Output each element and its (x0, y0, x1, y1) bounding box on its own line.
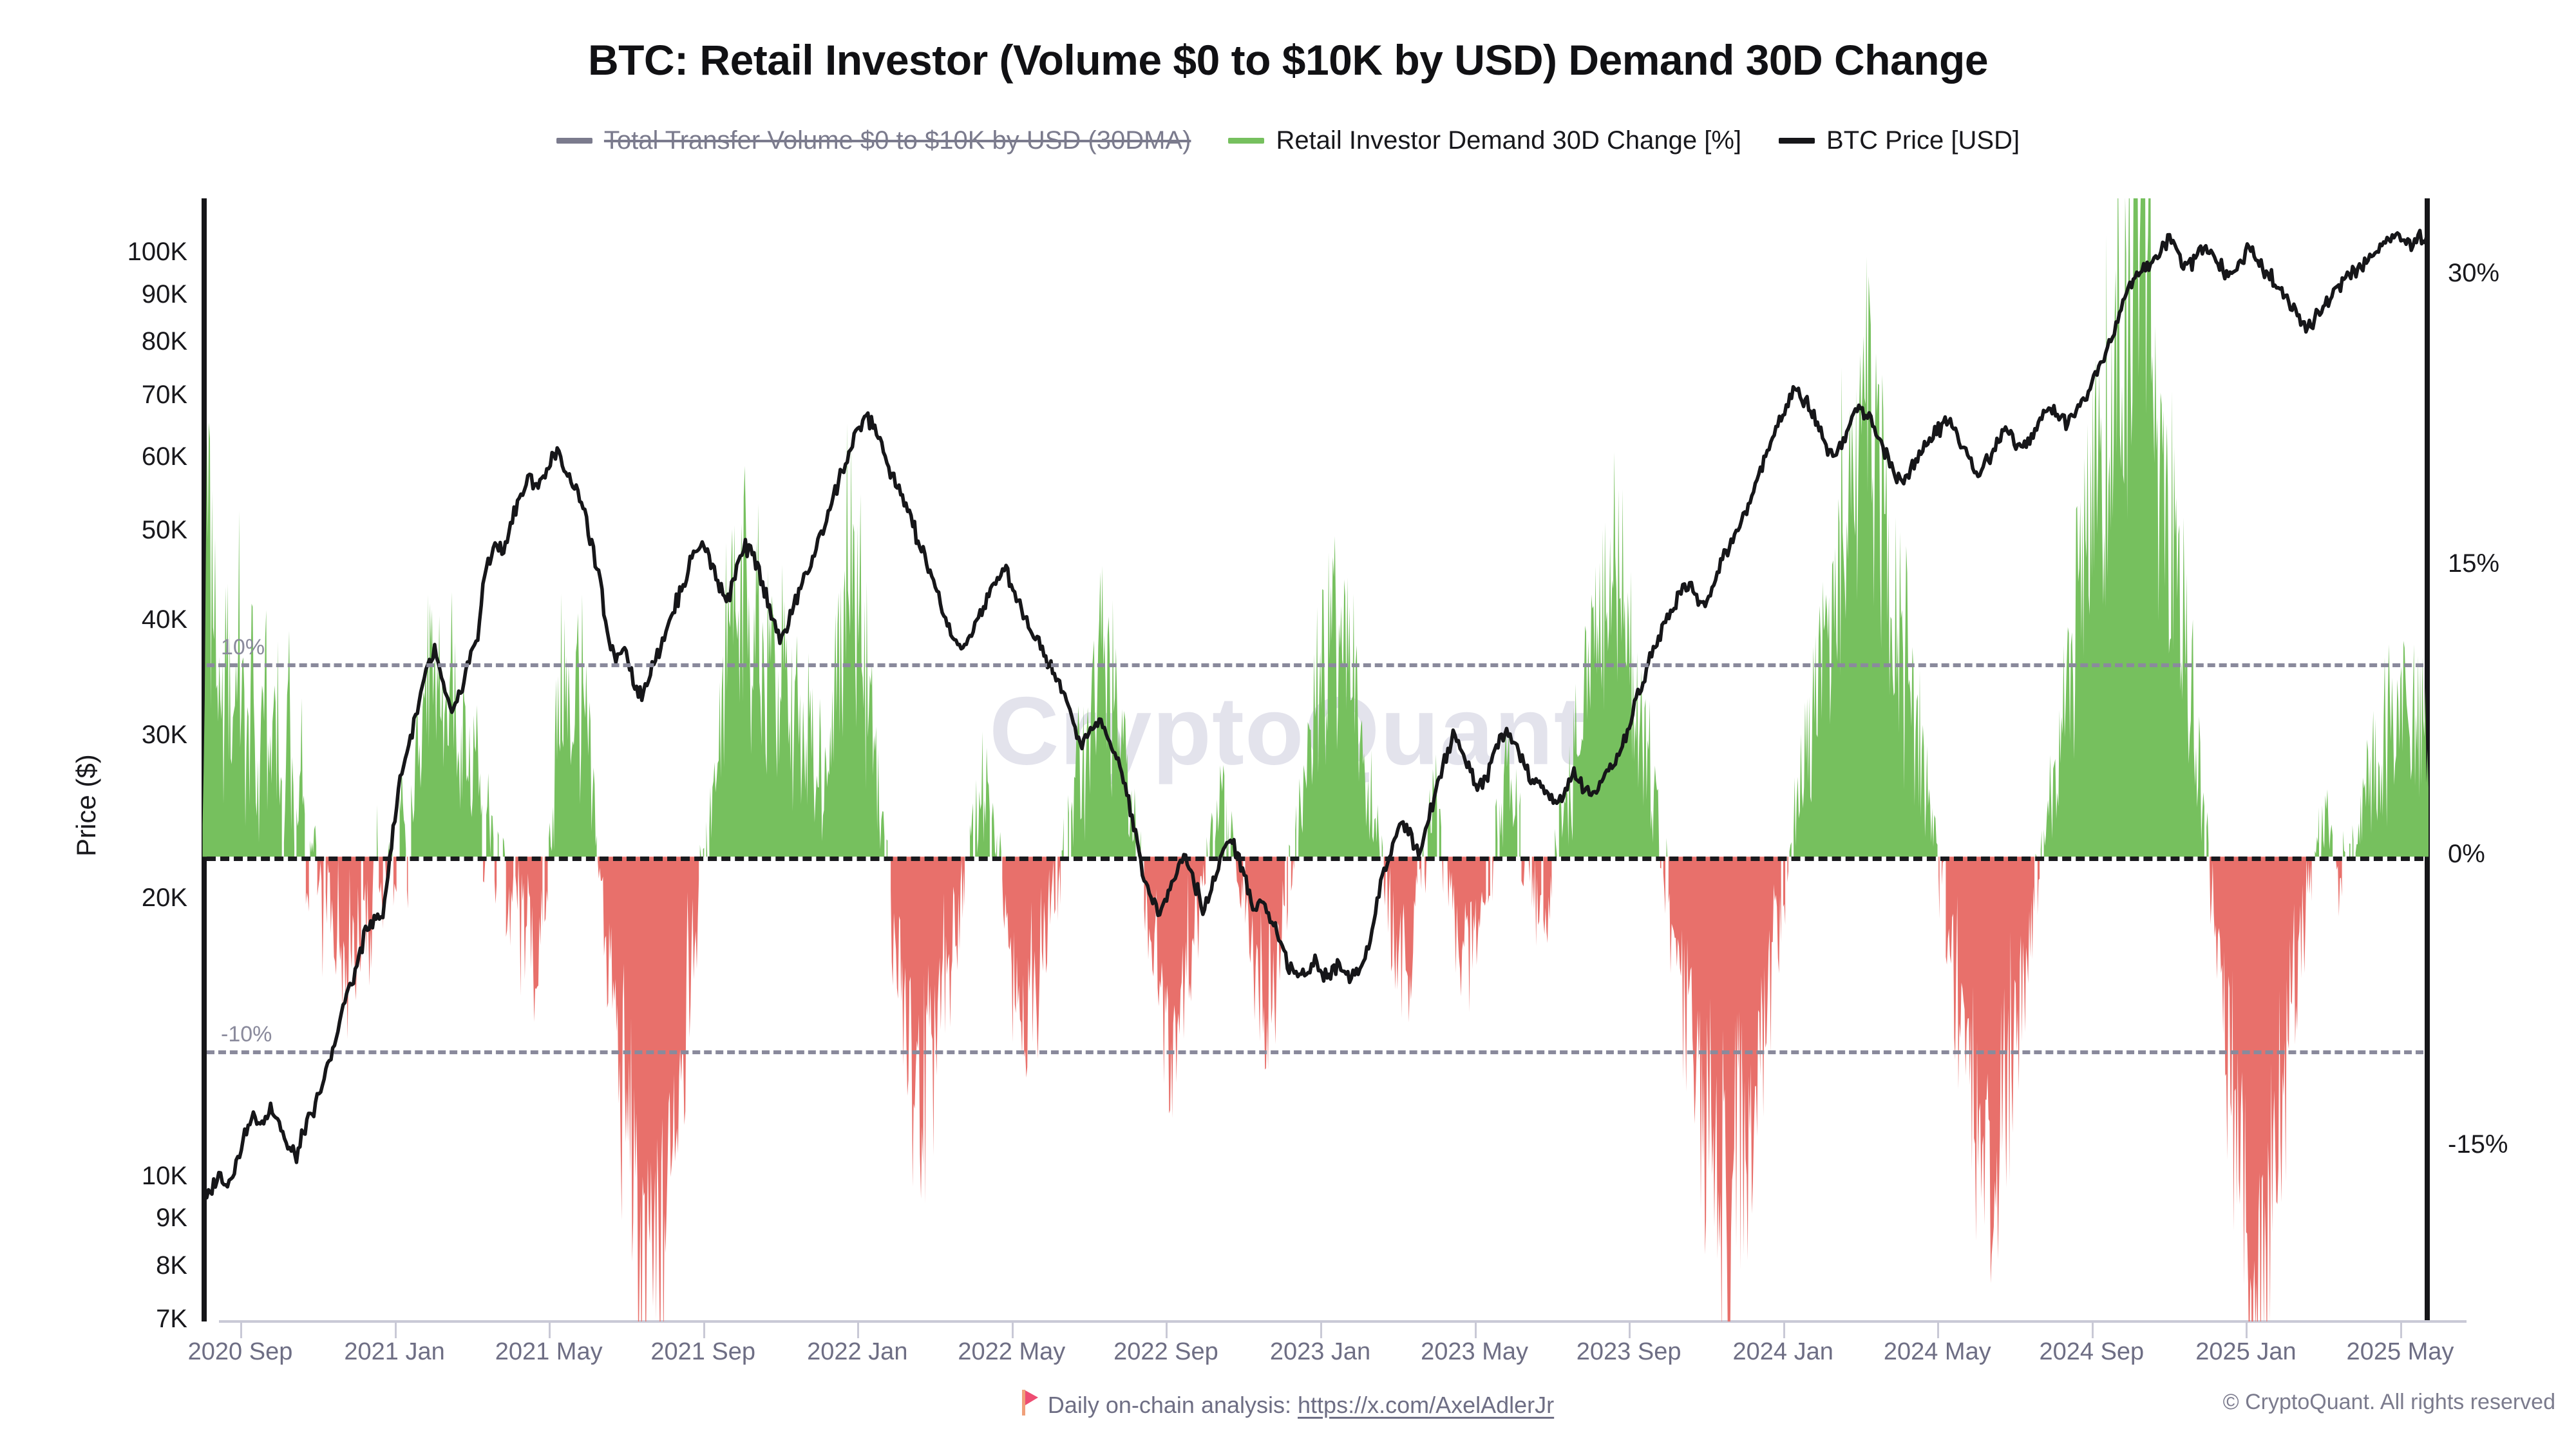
reference-line-zero (207, 857, 2423, 861)
chart-root: BTC: Retail Investor (Volume $0 to $10K … (0, 0, 2576, 1449)
y-axis-left-tick: 7K (156, 1305, 187, 1334)
y-axis-left-tick: 30K (142, 721, 187, 750)
x-axis-tick-label: 2024 May (1884, 1338, 1991, 1366)
legend-label-total-transfer-volume: Total Transfer Volume $0 to $10K by USD … (604, 126, 1191, 155)
x-axis-tick-label: 2020 Sep (188, 1338, 293, 1366)
y-axis-left-tick: 100K (128, 238, 187, 267)
x-axis-tick-mark (1475, 1321, 1477, 1338)
series-retail-demand-negative (306, 857, 2342, 1321)
legend-item-btc-price[interactable]: BTC Price [USD] (1779, 126, 2020, 155)
x-axis-tick-mark (1783, 1321, 1785, 1338)
y-axis-left-tick: 50K (142, 516, 187, 545)
y-axis-left-tick: 20K (142, 884, 187, 913)
x-axis-tick-label: 2022 May (958, 1338, 1065, 1366)
page-title: BTC: Retail Investor (Volume $0 to $10K … (0, 35, 2576, 84)
plot-area (202, 198, 2429, 1321)
reference-line-label: 10% (221, 635, 265, 660)
footer-copyright: © CryptoQuant. All rights reserved (2223, 1390, 2555, 1415)
reference-line-minus10pct (207, 1050, 2423, 1054)
x-axis-tick-mark (549, 1321, 551, 1338)
legend-label-retail-investor-demand: Retail Investor Demand 30D Change [%] (1276, 126, 1741, 155)
legend-swatch-retail-investor-demand (1228, 138, 1264, 144)
legend-label-btc-price: BTC Price [USD] (1826, 126, 2020, 155)
x-axis-tick-mark (857, 1321, 859, 1338)
x-axis-tick-mark (2400, 1321, 2402, 1338)
y-axis-left-tick: 9K (156, 1204, 187, 1233)
legend-item-total-transfer-volume[interactable]: Total Transfer Volume $0 to $10K by USD … (556, 126, 1191, 155)
reference-line-10pct (207, 663, 2423, 667)
footer-analysis-link[interactable]: https://x.com/AxelAdlerJr (1298, 1392, 1554, 1418)
reference-line-label: -10% (221, 1022, 272, 1047)
x-axis-tick-mark (240, 1321, 242, 1338)
x-axis-tick-label: 2023 Jan (1270, 1338, 1370, 1366)
x-axis-tick-mark (1166, 1321, 1168, 1338)
x-axis-tick-mark (395, 1321, 397, 1338)
legend-item-retail-investor-demand[interactable]: Retail Investor Demand 30D Change [%] (1228, 126, 1741, 155)
x-axis-tick-label: 2021 Jan (344, 1338, 444, 1366)
y-axis-left-tick: 40K (142, 605, 187, 634)
x-axis-tick-mark (1320, 1321, 1322, 1338)
y-axis-right-tick: -15% (2448, 1130, 2508, 1159)
x-axis-tick-mark (2092, 1321, 2094, 1338)
y-axis-left-tick: 70K (142, 381, 187, 410)
x-axis-tick-mark (1012, 1321, 1014, 1338)
y-axis-left-tick: 90K (142, 280, 187, 309)
x-axis-tick-mark (2246, 1321, 2248, 1338)
x-axis-tick-label: 2021 May (495, 1338, 603, 1366)
chart-legend: Total Transfer Volume $0 to $10K by USD … (0, 126, 2576, 155)
series-canvas (202, 198, 2429, 1321)
x-axis-tick-label: 2025 May (2347, 1338, 2454, 1366)
legend-swatch-btc-price (1779, 138, 1815, 144)
x-axis-tick-mark (1937, 1321, 1939, 1338)
x-axis-tick-label: 2024 Sep (2039, 1338, 2144, 1366)
y-axis-left-tick: 60K (142, 442, 187, 471)
footer-analysis-text: Daily on-chain analysis: (1048, 1392, 1298, 1418)
footer-analysis: Daily on-chain analysis: https://x.com/A… (0, 1390, 2576, 1421)
y-axis-right-tick: 30% (2448, 259, 2499, 288)
y-axis-right-tick: 0% (2448, 840, 2485, 869)
legend-swatch-total-transfer-volume (556, 138, 592, 144)
flag-icon (1022, 1390, 1039, 1421)
y-axis-left-tick: 8K (156, 1251, 187, 1280)
x-axis-tick-label: 2023 Sep (1577, 1338, 1681, 1366)
x-axis-tick-label: 2021 Sep (650, 1338, 755, 1366)
series-retail-demand-positive (203, 198, 2429, 857)
y-axis-left-tick: 10K (142, 1162, 187, 1191)
y-axis-left-tick: 80K (142, 327, 187, 356)
x-axis-tick-label: 2025 Jan (2195, 1338, 2296, 1366)
x-axis-tick-label: 2022 Jan (807, 1338, 907, 1366)
x-axis-tick-mark (703, 1321, 705, 1338)
y-axis-label: Price ($) (71, 754, 102, 857)
x-axis-tick-label: 2023 May (1421, 1338, 1528, 1366)
y-axis-right-tick: 15% (2448, 549, 2499, 578)
x-axis-tick-label: 2022 Sep (1113, 1338, 1218, 1366)
x-axis-tick-mark (1629, 1321, 1631, 1338)
x-axis-tick-label: 2024 Jan (1733, 1338, 1833, 1366)
